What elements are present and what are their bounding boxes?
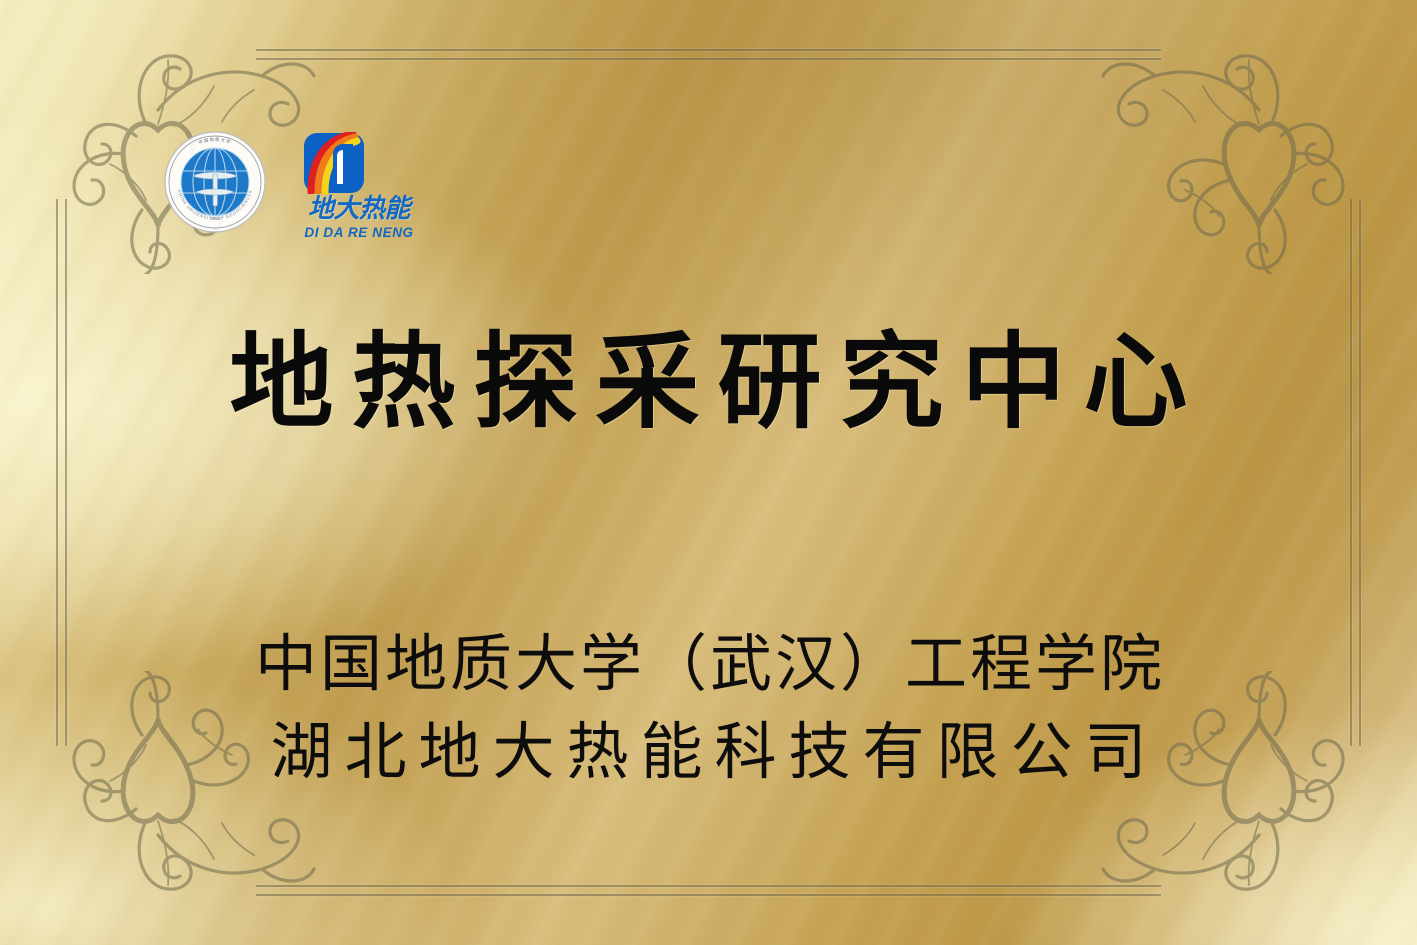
didareneng-logo-icon xyxy=(303,132,365,194)
didareneng-cn-name: 地大热能 xyxy=(289,196,429,222)
award-plaque: 中国地质大学 CHINA UNIVERSITY OF GEOSCIENCES 1… xyxy=(0,0,1417,945)
plaque-subtitle-line-2: 湖北地大热能科技有限公司 xyxy=(0,708,1417,796)
logo-row: 中国地质大学 CHINA UNIVERSITY OF GEOSCIENCES 1… xyxy=(163,130,429,240)
university-seal-icon: 中国地质大学 CHINA UNIVERSITY OF GEOSCIENCES 1… xyxy=(163,130,267,234)
didareneng-logo: 地大热能 DI DA RE NENG xyxy=(289,130,429,240)
plaque-subtitle-block: 中国地质大学（武汉）工程学院 湖北地大热能科技有限公司 xyxy=(0,620,1417,796)
didareneng-en-name: DI DA RE NENG xyxy=(289,225,429,240)
svg-text:1952: 1952 xyxy=(210,216,220,221)
plaque-subtitle-line-1: 中国地质大学（武汉）工程学院 xyxy=(0,620,1417,708)
corner-flourish-icon-top-right xyxy=(1099,14,1399,274)
plaque-title: 地热探采研究中心 xyxy=(0,326,1417,438)
